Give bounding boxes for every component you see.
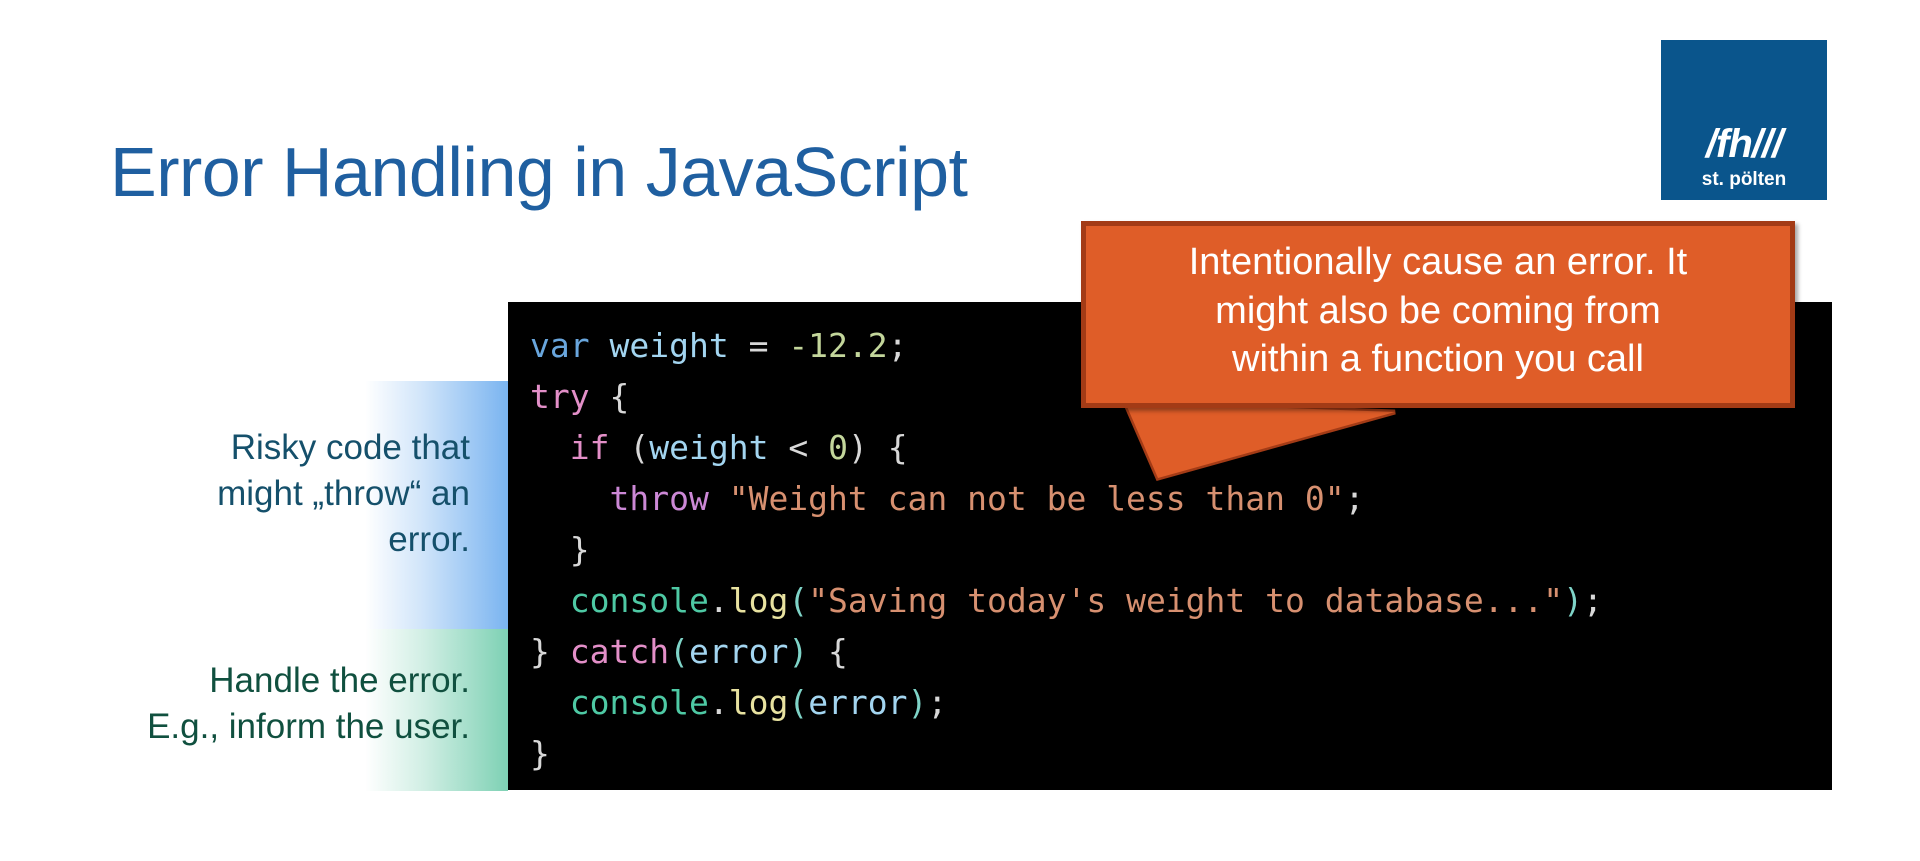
token-assign: =	[729, 326, 789, 365]
token-keyword-if: if	[570, 428, 610, 467]
token-brace-open: {	[590, 377, 630, 416]
token-number-weight-value: -12.2	[788, 326, 887, 365]
token-keyword-throw: throw	[609, 479, 708, 518]
token-identifier-weight-2: weight	[649, 428, 768, 467]
token-keyword-var: var	[530, 326, 590, 365]
token-indent	[530, 428, 570, 467]
callout-text: Intentionally cause an error. It might a…	[1114, 238, 1762, 384]
token-semicolon-4: ;	[927, 683, 947, 722]
token-brace-close-if: }	[530, 530, 590, 569]
token-paren-open-2: (	[788, 581, 808, 620]
logo-wordmark: /fh///	[1661, 124, 1827, 164]
catch-annotation-label: Handle the error. E.g., inform the user.	[80, 658, 470, 750]
token-paren-open-3: (	[669, 632, 689, 671]
token-brace-open-catch: {	[808, 632, 848, 671]
token-keyword-try: try	[530, 377, 590, 416]
token-paren-open: (	[610, 428, 650, 467]
token-object-console-2: console	[570, 683, 709, 722]
token-semicolon-3: ;	[1583, 581, 1603, 620]
page-title: Error Handling in JavaScript	[110, 137, 967, 207]
token-function-log-2: log	[729, 683, 789, 722]
token-space-2	[709, 479, 729, 518]
token-keyword-catch: catch	[570, 632, 669, 671]
token-identifier-weight: weight	[609, 326, 728, 365]
token-identifier-error: error	[689, 632, 788, 671]
token-function-log: log	[729, 581, 789, 620]
token-paren-close-brace: ) {	[848, 428, 908, 467]
token-dot: .	[709, 581, 729, 620]
token-paren-close-3: )	[788, 632, 808, 671]
token-object-console: console	[570, 581, 709, 620]
token-number-zero: 0	[828, 428, 848, 467]
token-space	[590, 326, 610, 365]
token-semicolon: ;	[888, 326, 908, 365]
token-indent-4	[530, 683, 570, 722]
token-indent-2	[530, 479, 609, 518]
token-string-saving: "Saving today's weight to database..."	[808, 581, 1563, 620]
try-annotation-label: Risky code that might „throw“ an error.	[80, 425, 470, 564]
token-brace-close-try: }	[530, 632, 570, 671]
fh-st-poelten-logo: /fh/// st. pölten	[1661, 40, 1827, 200]
token-paren-close-2: )	[1563, 581, 1583, 620]
token-dot-2: .	[709, 683, 729, 722]
token-indent-3	[530, 581, 570, 620]
token-brace-close-final: }	[530, 734, 550, 773]
token-paren-close-4: )	[908, 683, 928, 722]
logo-subtitle: st. pölten	[1661, 170, 1827, 189]
token-paren-open-4: (	[788, 683, 808, 722]
callout-tail	[1120, 400, 1420, 490]
token-lt: <	[768, 428, 828, 467]
token-identifier-error-2: error	[808, 683, 907, 722]
callout-box: Intentionally cause an error. It might a…	[1081, 221, 1795, 408]
